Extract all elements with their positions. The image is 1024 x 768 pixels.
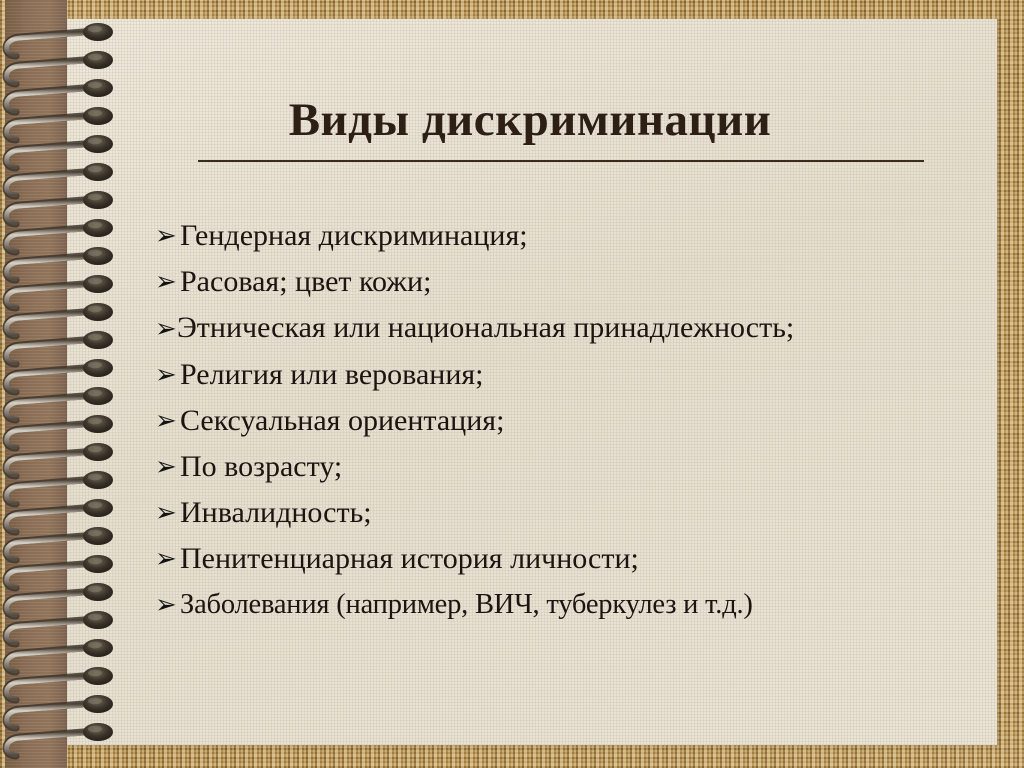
discrimination-types-list: ➢ Гендерная дискриминация; ➢ Расовая; цв… bbox=[155, 213, 995, 628]
list-item: ➢ Пенитенциарная история личности; bbox=[155, 536, 995, 582]
list-item: ➢Этническая или национальная принадлежно… bbox=[155, 305, 995, 352]
list-item-label: Религия или верования; bbox=[180, 358, 484, 391]
title-block: Виды дискриминации bbox=[130, 96, 930, 162]
list-item-label: Этническая или национальная принадлежнос… bbox=[177, 311, 794, 344]
arrow-bullet-icon: ➢ bbox=[155, 536, 177, 582]
list-item: ➢ Сексуальная ориентация; bbox=[155, 398, 995, 444]
list-item-label: Заболевания (например, ВИЧ, туберкулез и… bbox=[180, 589, 753, 620]
list-item-label: Расовая; цвет кожи; bbox=[180, 265, 431, 298]
list-item-label: По возрасту; bbox=[180, 450, 342, 483]
list-item-label: Пенитенциарная история личности; bbox=[180, 542, 639, 575]
presentation-slide: Виды дискриминации ➢ Гендерная дискримин… bbox=[0, 0, 1024, 768]
arrow-bullet-icon: ➢ bbox=[155, 490, 177, 536]
list-item: ➢ По возрасту; bbox=[155, 444, 995, 490]
list-item-label: Инвалидность; bbox=[180, 496, 372, 529]
list-item-label: Гендерная дискриминация; bbox=[180, 219, 528, 252]
list-item: ➢ Религия или верования; bbox=[155, 352, 995, 398]
list-item-label: Сексуальная ориентация; bbox=[180, 404, 504, 437]
arrow-bullet-icon: ➢ bbox=[155, 444, 177, 490]
list-item: ➢ Гендерная дискриминация; bbox=[155, 213, 995, 259]
arrow-bullet-icon: ➢ bbox=[155, 582, 177, 628]
arrow-bullet-icon: ➢ bbox=[155, 398, 177, 444]
list-item: ➢ Расовая; цвет кожи; bbox=[155, 259, 995, 305]
page-title: Виды дискриминации bbox=[130, 96, 930, 146]
arrow-bullet-icon: ➢ bbox=[155, 352, 177, 398]
list-item: ➢ Инвалидность; bbox=[155, 490, 995, 536]
arrow-bullet-icon: ➢ bbox=[155, 259, 177, 305]
list-item: ➢ Заболевания (например, ВИЧ, туберкулез… bbox=[155, 582, 995, 628]
notebook-backing-strip bbox=[5, 0, 67, 768]
arrow-bullet-icon: ➢ bbox=[155, 213, 177, 259]
arrow-bullet-icon: ➢ bbox=[155, 306, 177, 352]
title-divider bbox=[198, 160, 924, 162]
